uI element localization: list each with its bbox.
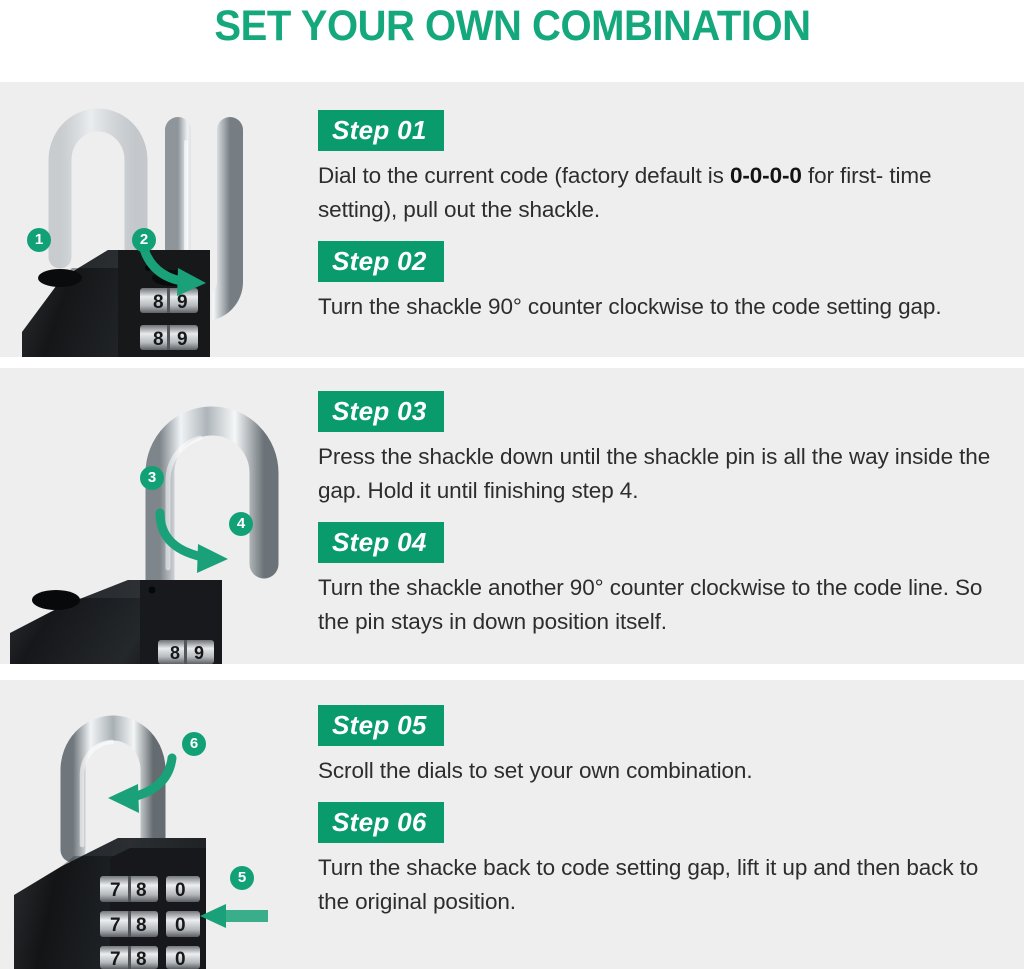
step-text-06: Turn the shacke back to code setting gap… — [318, 851, 1004, 919]
padlock-figure-1: 8 9 8 9 1 2 — [0, 82, 310, 357]
step-block-05: Step 05 Scroll the dials to set your own… — [318, 705, 1004, 788]
infographic-page: SET YOUR OWN COMBINATION — [0, 0, 1024, 969]
dial-arrow-left-icon — [200, 904, 268, 928]
svg-text:7: 7 — [110, 880, 121, 901]
step-text-04: Turn the shackle another 90° counter clo… — [318, 571, 1004, 639]
step-block-01: Step 01 Dial to the current code (factor… — [318, 110, 1004, 227]
svg-text:8: 8 — [136, 915, 147, 936]
svg-text:9: 9 — [194, 643, 204, 663]
title-bar: SET YOUR OWN COMBINATION — [0, 0, 1024, 82]
step-text-01: Dial to the current code (factory defaul… — [318, 159, 1004, 227]
dial-row-1: 7 8 0 — [100, 876, 200, 902]
dial-row-3: 7 8 0 — [100, 946, 200, 969]
callout-3: 3 — [140, 466, 164, 490]
svg-text:8: 8 — [136, 880, 147, 901]
step-text-01-bold: 0-0-0-0 — [730, 163, 802, 188]
callout-6: 6 — [182, 732, 206, 756]
step-text-02: Turn the shackle 90° counter clockwise t… — [318, 290, 1004, 324]
svg-text:8: 8 — [170, 643, 180, 663]
step-panel-3: 7 8 0 7 8 0 7 8 — [0, 680, 1024, 969]
padlock-figure-3: 7 8 0 7 8 0 7 8 — [0, 680, 310, 969]
padlock-illustration-2: 8 9 — [0, 368, 310, 664]
svg-text:9: 9 — [177, 329, 188, 350]
dial-row-1: 8 9 — [140, 288, 198, 313]
padlock-illustration-3: 7 8 0 7 8 0 7 8 — [0, 680, 310, 969]
step-list-1: Step 01 Dial to the current code (factor… — [310, 82, 1024, 357]
step-badge-03: Step 03 — [318, 391, 444, 432]
step-text-01-a: Dial to the current code (factory defaul… — [318, 163, 730, 188]
callout-1: 1 — [27, 228, 51, 252]
step-panel-2: 8 9 3 4 Step 03 Press the shackle down u… — [0, 368, 1024, 664]
padlock-figure-2: 8 9 3 4 — [0, 368, 310, 664]
step-block-04: Step 04 Turn the shackle another 90° cou… — [318, 522, 1004, 639]
svg-text:0: 0 — [175, 915, 186, 936]
step-text-03: Press the shackle down until the shackle… — [318, 440, 1004, 508]
svg-text:8: 8 — [153, 329, 164, 350]
step-block-02: Step 02 Turn the shackle 90° counter clo… — [318, 241, 1004, 324]
svg-text:8: 8 — [153, 292, 164, 313]
dial-row-1: 8 9 — [158, 640, 214, 664]
svg-text:0: 0 — [175, 880, 186, 901]
step-list-2: Step 03 Press the shackle down until the… — [310, 368, 1024, 664]
step-panel-1: 8 9 8 9 1 2 St — [0, 82, 1024, 357]
callout-2: 2 — [132, 228, 156, 252]
svg-text:7: 7 — [110, 915, 121, 936]
step-badge-01: Step 01 — [318, 110, 444, 151]
svg-text:7: 7 — [110, 949, 121, 969]
padlock-illustration-1: 8 9 8 9 — [0, 82, 310, 357]
svg-text:0: 0 — [175, 949, 186, 969]
step-text-05: Scroll the dials to set your own combina… — [318, 754, 1004, 788]
step-badge-04: Step 04 — [318, 522, 444, 563]
step-badge-02: Step 02 — [318, 241, 444, 282]
dial-row-2: 8 9 — [140, 325, 198, 350]
page-title: SET YOUR OWN COMBINATION — [214, 0, 810, 50]
dial-row-2: 7 8 0 — [100, 911, 200, 937]
step-list-3: Step 05 Scroll the dials to set your own… — [310, 680, 1024, 969]
callout-4: 4 — [229, 512, 253, 536]
step-block-06: Step 06 Turn the shacke back to code set… — [318, 802, 1004, 919]
svg-text:8: 8 — [136, 949, 147, 969]
step-badge-05: Step 05 — [318, 705, 444, 746]
callout-5: 5 — [230, 866, 254, 890]
step-badge-06: Step 06 — [318, 802, 444, 843]
step-block-03: Step 03 Press the shackle down until the… — [318, 391, 1004, 508]
